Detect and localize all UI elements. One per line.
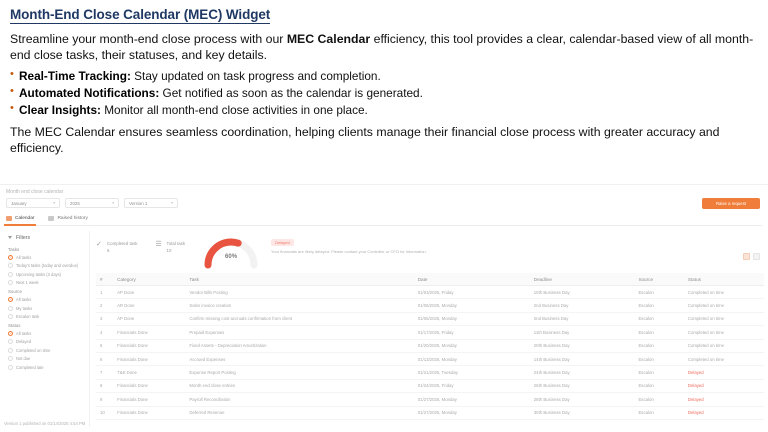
grid-view-icon[interactable]	[753, 253, 760, 260]
page-title: Month-End Close Calendar (MEC) Widget	[10, 7, 270, 24]
radio-icon[interactable]	[8, 356, 13, 361]
filter-option-status-all[interactable]: All tasks	[8, 331, 85, 336]
radio-icon[interactable]	[8, 272, 13, 277]
metric-total-value: 10	[167, 248, 172, 253]
cell-task: Payroll Reconciliation	[189, 397, 417, 402]
intro-text-1: Streamline your month-end close process …	[10, 32, 287, 46]
completion-gauge: 60%	[203, 235, 259, 269]
filter-option-tasks-today[interactable]: Today's tasks (today and overdue)	[8, 263, 85, 268]
filter-icon	[8, 236, 13, 241]
cell-status: Delayed	[688, 397, 764, 402]
tasks-table: # Category Task Date Deadline Source Sta…	[96, 273, 764, 420]
cell-index: 3	[96, 316, 117, 321]
cell-category: Financials Done	[117, 343, 189, 348]
cell-index: 9	[96, 397, 117, 402]
cell-source: Escalon	[638, 410, 687, 415]
cell-source: Escalon	[638, 330, 687, 335]
tab-calendar-label: Calendar	[15, 216, 34, 221]
cell-status: Delayed	[688, 370, 764, 375]
list-item: Clear Insights: Monitor all month-end cl…	[10, 102, 758, 119]
cell-index: 10	[96, 410, 117, 415]
chevron-down-icon: ▾	[171, 201, 173, 205]
table-header-row: # Category Task Date Deadline Source Sta…	[96, 273, 764, 286]
cell-task: Expense Report Posting	[189, 370, 417, 375]
filter-option-label: Delayed	[16, 339, 31, 344]
tab-raised-history[interactable]: Raised history	[48, 216, 87, 221]
metrics-bar: ✓ Completed task 6 ☰ Total task 10 60%	[96, 235, 764, 271]
year-select[interactable]: 2025 ▾	[65, 198, 119, 208]
cell-source: Escalon	[638, 370, 687, 375]
cell-category: Financials Done	[117, 330, 189, 335]
filter-option-label: Escalon task	[16, 314, 39, 319]
cell-category: AR Done	[117, 303, 189, 308]
version-select-value: Version 1	[129, 201, 147, 206]
radio-icon[interactable]	[8, 306, 13, 311]
version-footer: Version 1 published on 01/14/2025 4:54 P…	[4, 421, 85, 426]
metric-completed-task: ✓ Completed task 6	[96, 235, 138, 253]
app-screenshot: Month end close calendar January ▾ 2025 …	[0, 184, 768, 432]
filters-header: Filters	[8, 235, 85, 241]
cell-category: Financials Done	[117, 410, 189, 415]
filter-selects: January ▾ 2025 ▾ Version 1 ▾	[6, 198, 178, 208]
cell-source: Escalon	[638, 316, 687, 321]
filter-option-label: Today's tasks (today and overdue)	[16, 263, 78, 268]
cell-date: 01/27/2025, Monday	[418, 410, 534, 415]
cell-index: 6	[96, 357, 117, 362]
cell-status: Completed on time	[688, 343, 764, 348]
delay-alert: Delayed Your financials are likely delay…	[271, 235, 427, 254]
column-header-deadline: Deadline	[534, 277, 639, 282]
cell-index: 5	[96, 343, 117, 348]
filter-option-tasks-next-week[interactable]: Next 1 week	[8, 280, 85, 285]
cell-deadline: 28th Business Day	[534, 397, 639, 402]
column-header-task: Task	[189, 277, 417, 282]
intro-bold: MEC Calendar	[287, 32, 370, 46]
gauge-percent-label: 60%	[203, 254, 259, 260]
cell-deadline: 11th Business Day	[534, 330, 639, 335]
cell-category: Financials Done	[117, 357, 189, 362]
alert-message: Your financials are likely delayed. Plea…	[271, 249, 427, 254]
filter-option-tasks-upcoming[interactable]: Upcoming tasks (3 days)	[8, 272, 85, 277]
cell-source: Escalon	[638, 290, 687, 295]
status-badge: Delayed	[271, 239, 294, 246]
cell-source: Escalon	[638, 383, 687, 388]
month-select[interactable]: January ▾	[6, 198, 60, 208]
tab-raised-history-label: Raised history	[57, 216, 87, 221]
cell-index: 4	[96, 330, 117, 335]
radio-icon[interactable]	[8, 331, 13, 336]
cell-task: Vendor Bills Posting	[189, 290, 417, 295]
cell-deadline: 2nd Business Day	[534, 316, 639, 321]
filter-option-source-escalon[interactable]: Escalon task	[8, 314, 85, 319]
cell-category: Financials Done	[117, 397, 189, 402]
filter-option-label: Not due	[16, 356, 30, 361]
cell-index: 7	[96, 370, 117, 375]
cell-task: Deferred Revenue	[189, 410, 417, 415]
cell-status: Delayed	[688, 383, 764, 388]
version-select[interactable]: Version 1 ▾	[124, 198, 178, 208]
article-copy: Month-End Close Calendar (MEC) Widget St…	[0, 0, 768, 157]
filters-heading: Filters	[16, 235, 30, 241]
cell-category: AP Done	[117, 290, 189, 295]
filter-option-label: All tasks	[16, 255, 31, 260]
cell-task: Sales invoice creation	[189, 303, 417, 308]
filter-option-status-on-time[interactable]: Completed on time	[8, 348, 85, 353]
filter-option-status-completed-late[interactable]: Completed late	[8, 365, 85, 370]
app-page-title: Month end close calendar	[6, 189, 63, 195]
cell-date: 01/06/2025, Monday	[418, 303, 534, 308]
cell-task: Confirm missing cost accruals confirmati…	[189, 316, 417, 321]
cell-task: Month end close entries	[189, 383, 417, 388]
bullet-text: Get notified as soon as the calendar is …	[159, 86, 423, 100]
year-select-value: 2025	[70, 201, 80, 206]
filter-group-label-source: Source	[8, 289, 85, 294]
bullet-title: Real-Time Tracking:	[19, 69, 131, 83]
cell-source: Escalon	[638, 357, 687, 362]
cell-status: Completed on time	[688, 316, 764, 321]
radio-icon[interactable]	[8, 339, 13, 344]
radio-icon[interactable]	[8, 263, 13, 268]
table-row[interactable]: 9Financials DonePayroll Reconciliation01…	[96, 393, 764, 406]
column-header-status: Status	[688, 277, 764, 282]
cell-deadline: 30th Business Day	[534, 410, 639, 415]
check-icon: ✓	[96, 241, 103, 248]
table-row[interactable]: 4Financials DonePrepaid Expenses01/17/20…	[96, 326, 764, 339]
cell-date: 01/24/2025, Friday	[418, 383, 534, 388]
filter-option-tasks-all[interactable]: All tasks	[8, 255, 85, 260]
cell-category: Financials Done	[117, 383, 189, 388]
filter-option-label: Upcoming tasks (3 days)	[16, 272, 61, 277]
table-row[interactable]: 10Financials DoneDeferred Revenue01/27/2…	[96, 407, 764, 420]
cell-source: Escalon	[638, 397, 687, 402]
filters-sidebar: Filters Tasks All tasks Today's tasks (t…	[4, 231, 90, 427]
radio-icon[interactable]	[8, 365, 13, 370]
cell-deadline: 2nd Business Day	[534, 303, 639, 308]
raise-request-button[interactable]: Raise a request	[702, 198, 760, 209]
cell-deadline: 20th Business Day	[534, 343, 639, 348]
list-view-icon[interactable]	[743, 253, 750, 260]
radio-icon[interactable]	[8, 297, 13, 302]
cell-date: 01/17/2025, Friday	[418, 330, 534, 335]
metric-total-task: ☰ Total task 10	[156, 235, 186, 253]
filter-option-label: All tasks	[16, 331, 31, 336]
cell-date: 01/13/2025, Monday	[418, 357, 534, 362]
cell-status: Delayed	[688, 410, 764, 415]
list-icon: ☰	[156, 241, 163, 248]
table-body: 1AP DoneVendor Bills Posting01/03/2025, …	[96, 286, 764, 420]
table-row[interactable]: 7T&E DoneExpense Report Posting01/21/202…	[96, 366, 764, 379]
history-icon	[48, 216, 54, 221]
chevron-down-icon: ▾	[112, 201, 114, 205]
tab-calendar[interactable]: Calendar	[6, 216, 34, 221]
filter-option-label: Completed late	[16, 365, 44, 370]
cell-date: 01/03/2025, Friday	[418, 290, 534, 295]
cell-category: T&E Done	[117, 370, 189, 375]
column-header-date: Date	[418, 277, 534, 282]
column-header-index: #	[96, 277, 117, 282]
filter-option-status-delayed[interactable]: Delayed	[8, 339, 85, 344]
bullet-text: Stay updated on task progress and comple…	[131, 69, 381, 83]
cell-index: 1	[96, 290, 117, 295]
table-row[interactable]: 5Financials DoneFixed Assets - Depreciat…	[96, 340, 764, 353]
radio-icon[interactable]	[8, 314, 13, 319]
cell-status: Completed on time	[688, 290, 764, 295]
table-row[interactable]: 1AP DoneVendor Bills Posting01/03/2025, …	[96, 286, 764, 299]
metric-completed-value: 6	[107, 248, 109, 253]
filter-group-label-status: Status	[8, 323, 85, 328]
list-item: Real-Time Tracking: Stay updated on task…	[10, 68, 758, 85]
bullet-text: Monitor all month-end close activities i…	[101, 103, 368, 117]
cell-task: Prepaid Expenses	[189, 330, 417, 335]
month-select-value: January	[11, 201, 27, 206]
radio-icon[interactable]	[8, 348, 13, 353]
list-item: Automated Notifications: Get notified as…	[10, 85, 758, 102]
page-root: Month-End Close Calendar (MEC) Widget St…	[0, 0, 768, 432]
cell-deadline: 10th Business Day	[534, 290, 639, 295]
filter-option-source-all[interactable]: All tasks	[8, 297, 85, 302]
cell-deadline: 26th Business Day	[534, 383, 639, 388]
tab-bar: Calendar Raised history	[6, 216, 762, 226]
cell-date: 01/21/2025, Tuesday	[418, 370, 534, 375]
filter-option-source-my[interactable]: My tasks	[8, 306, 85, 311]
cell-index: 8	[96, 383, 117, 388]
cell-date: 01/27/2025, Monday	[418, 397, 534, 402]
view-toggle-group	[743, 253, 760, 260]
radio-icon[interactable]	[8, 280, 13, 285]
column-header-source: Source	[638, 277, 687, 282]
outro-paragraph: The MEC Calendar ensures seamless coordi…	[10, 124, 758, 157]
metric-completed-label: Completed task	[107, 241, 138, 246]
cell-source: Escalon	[638, 343, 687, 348]
cell-task: Accrued Expenses	[189, 357, 417, 362]
cell-source: Escalon	[638, 303, 687, 308]
filter-option-label: Next 1 week	[16, 280, 39, 285]
filter-option-label: My tasks	[16, 306, 32, 311]
filter-option-label: All tasks	[16, 297, 31, 302]
cell-category: AP Done	[117, 316, 189, 321]
calendar-icon	[6, 216, 12, 221]
cell-date: 01/06/2025, Monday	[418, 316, 534, 321]
intro-paragraph: Streamline your month-end close process …	[10, 31, 758, 64]
bullet-title: Clear Insights:	[19, 103, 101, 117]
cell-date: 01/20/2025, Monday	[418, 343, 534, 348]
cell-status: Completed on time	[688, 357, 764, 362]
table-row[interactable]: 3AP DoneConfirm missing cost accruals co…	[96, 313, 764, 326]
table-row[interactable]: 2AR DoneSales invoice creation01/06/2025…	[96, 299, 764, 312]
chevron-down-icon: ▾	[53, 201, 55, 205]
cell-deadline: 24th Business Day	[534, 370, 639, 375]
filter-option-label: Completed on time	[16, 348, 50, 353]
table-row[interactable]: 8Financials DoneMonth end close entries0…	[96, 380, 764, 393]
filter-group-label-tasks: Tasks	[8, 247, 85, 252]
table-row[interactable]: 6Financials DoneAccrued Expenses01/13/20…	[96, 353, 764, 366]
cell-index: 2	[96, 303, 117, 308]
cell-status: Completed on time	[688, 303, 764, 308]
radio-icon[interactable]	[8, 255, 13, 260]
filter-option-status-not-due[interactable]: Not due	[8, 356, 85, 361]
metric-total-label: Total task	[167, 241, 186, 246]
feature-list: Real-Time Tracking: Stay updated on task…	[10, 68, 758, 119]
cell-task: Fixed Assets - Depreciation Amortization	[189, 343, 417, 348]
bullet-title: Automated Notifications:	[19, 86, 159, 100]
cell-deadline: 14th Business Day	[534, 357, 639, 362]
cell-status: Completed on time	[688, 330, 764, 335]
column-header-category: Category	[117, 277, 189, 282]
